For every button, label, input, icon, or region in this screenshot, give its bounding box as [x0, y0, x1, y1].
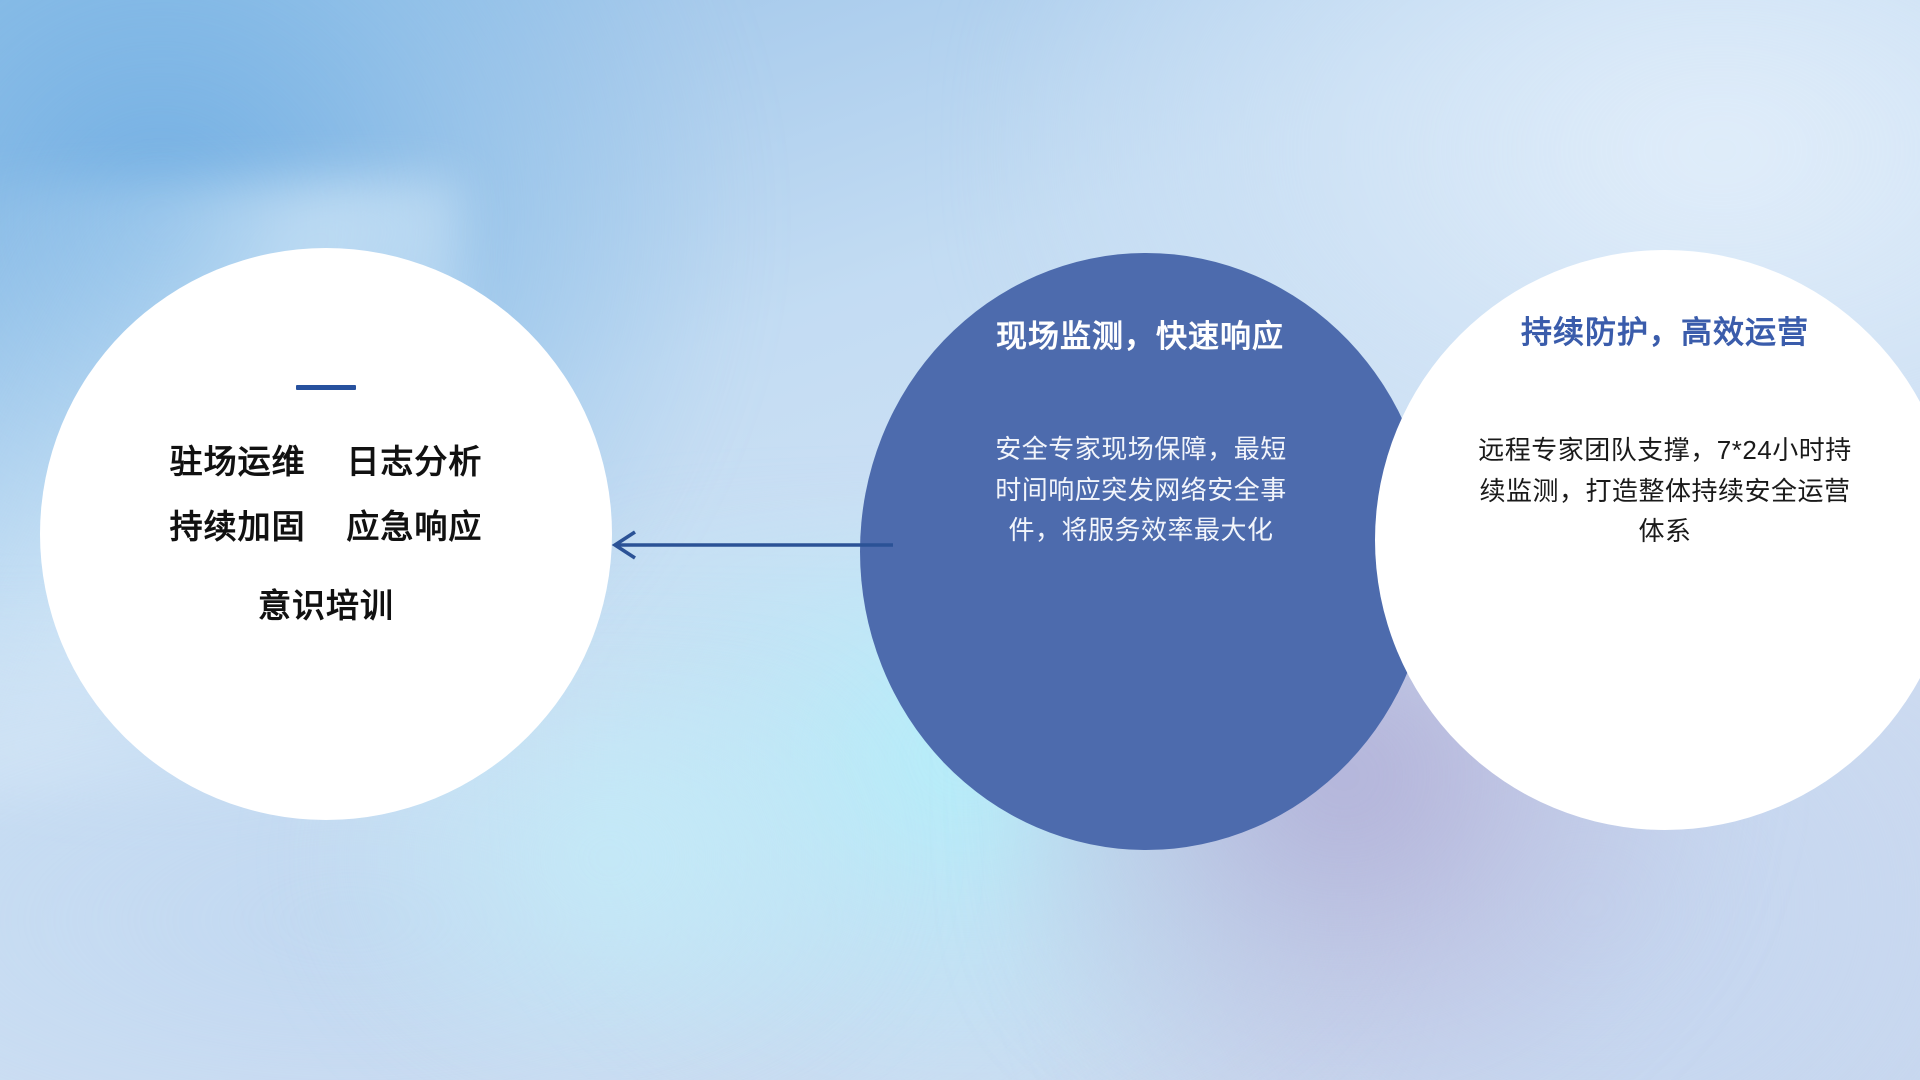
right-circle-title: 持续防护，高效运营 — [1521, 307, 1809, 352]
middle-circle-content: 现场监测，快速响应 安全专家现场保障，最短时间响应突发网络安全事件，将服务效率最… — [860, 253, 1432, 850]
list-item: 意识培训 — [258, 589, 394, 622]
right-circle-description: 远程专家团队支撑，7*24小时持续监测，打造整体持续安全运营体系 — [1473, 430, 1858, 552]
left-circle-divider — [296, 385, 356, 390]
right-circle-content: 持续防护，高效运营 远程专家团队支撑，7*24小时持续监测，打造整体持续安全运营… — [1375, 250, 1920, 830]
left-circle-content: 驻场运维 日志分析 持续加固 应急响应 意识培训 — [40, 248, 612, 820]
left-circle-capability-list: 驻场运维 日志分析 持续加固 应急响应 意识培训 — [40, 445, 612, 622]
list-item: 持续加固 应急响应 — [170, 510, 483, 543]
arrow-left-icon — [595, 515, 895, 575]
middle-circle-title: 现场监测，快速响应 — [996, 311, 1284, 356]
middle-circle-description: 安全专家现场保障，最短时间响应突发网络安全事件，将服务效率最大化 — [987, 429, 1295, 551]
list-item: 驻场运维 日志分析 — [170, 445, 483, 478]
